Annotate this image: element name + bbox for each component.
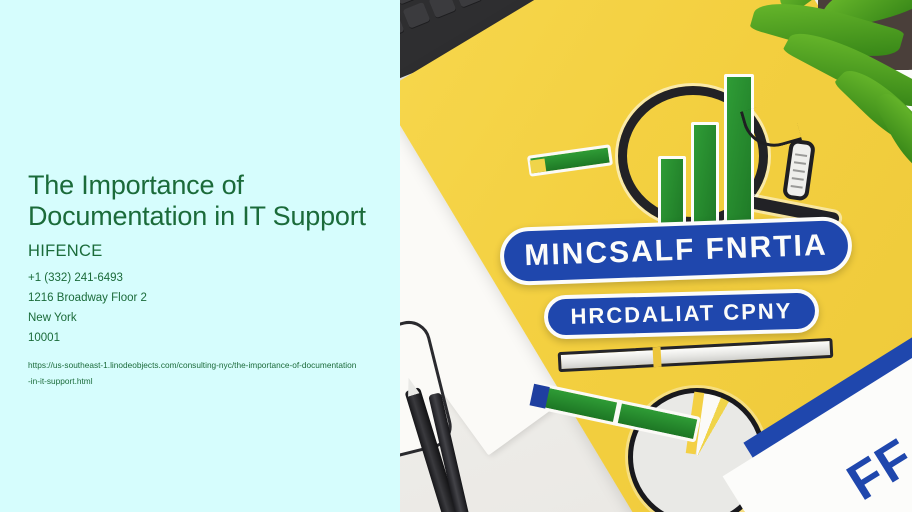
article-info-panel: The Importance of Documentation in IT Su… [0, 0, 400, 512]
article-hero-image: MINCSALF FNRTIA HRCDALIAT CPNY FF [400, 0, 912, 512]
green-marker-upper [527, 144, 613, 176]
postal-code: 10001 [28, 328, 368, 348]
page-title: The Importance of Documentation in IT Su… [28, 170, 368, 233]
city-name: New York [28, 308, 368, 328]
text-block: The Importance of Documentation in IT Su… [28, 170, 368, 389]
source-url-link[interactable]: https://us-southeast-1.linodeobjects.com… [28, 357, 358, 389]
page-root: The Importance of Documentation in IT Su… [0, 0, 912, 512]
banner-primary: MINCSALF FNRTIA [499, 216, 853, 286]
brand-name: HIFENCE [28, 242, 368, 261]
bar-chart-bar-3 [724, 74, 754, 228]
silver-pen-icon [558, 338, 834, 372]
computer-mouse-icon [782, 138, 816, 201]
street-address: 1216 Broadway Floor 2 [28, 288, 368, 308]
phone-number: +1 (332) 241-6493 [28, 268, 368, 288]
banner-secondary: HRCDALIAT CPNY [543, 288, 819, 339]
bar-chart-bar-1 [658, 156, 686, 228]
bar-chart-bar-2 [691, 122, 719, 228]
